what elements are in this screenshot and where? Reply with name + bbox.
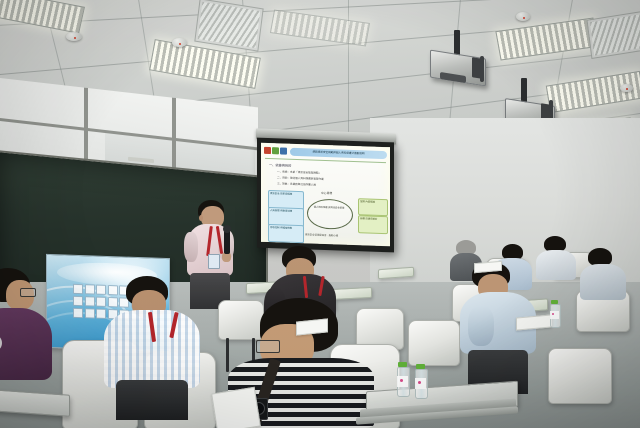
smoke-detector-far-right xyxy=(620,84,633,92)
recessed-fluorescent-panel-3 xyxy=(270,10,370,47)
slide-footer: 資訊安全管理委員會 · 推動小組 xyxy=(305,232,338,237)
recessed-fluorescent-panel-4 xyxy=(495,17,598,60)
handout-paper-foreground xyxy=(211,387,261,428)
presenter-ear xyxy=(199,215,203,221)
slide-logo-1 xyxy=(264,147,271,154)
slide-header-title: 網路資訊安全規範與個人資料保護法推動說明 xyxy=(290,147,387,158)
attendee-blue-right-arm xyxy=(468,306,494,346)
presenter-arm-left xyxy=(184,232,198,262)
attendee-foreground-purple-torso xyxy=(0,308,52,380)
slide-bullet-3: 三、對象：各業務單位及所屬人員 xyxy=(277,181,316,186)
recessed-fluorescent-panel-1 xyxy=(0,0,85,34)
slide-bullet-1: 一、依據：本部「資訊安全管理規範」 xyxy=(277,169,321,175)
classroom-photo: 網路資訊安全規範與個人資料保護法推動說明 一、依據與目的 一、依據：本部「資訊安… xyxy=(0,0,640,428)
smoke-detector-center xyxy=(172,38,187,47)
slide-right-box-2: 持續 改善與檢討 xyxy=(358,215,388,234)
smoke-detector-left xyxy=(66,32,82,41)
attendee-foreground-striped-glasses xyxy=(256,340,280,353)
slide-center-oval xyxy=(307,198,353,230)
recessed-fluorescent-panel-5 xyxy=(546,71,640,113)
attendee-foreground-purple-glasses xyxy=(20,288,36,297)
microphone-head xyxy=(223,225,231,233)
air-diffuser-right xyxy=(588,12,640,58)
slide-oval-label: 中心目標 xyxy=(321,191,332,195)
slide-logo-3 xyxy=(280,147,287,154)
attendee-white-row1-torso xyxy=(536,250,576,280)
left-foreground-table xyxy=(0,389,70,417)
tablet-desk-mid-2 xyxy=(330,287,372,300)
slide-left-box-3: 存取控制 與稽核機制 xyxy=(268,224,304,243)
slide-section-heading: 一、依據與目的 xyxy=(269,162,291,168)
projection-screen[interactable]: 網路資訊安全規範與個人資料保護法推動說明 一、依據與目的 一、依據：本部「資訊安… xyxy=(257,138,394,253)
attendee-left-check-trousers xyxy=(116,380,188,420)
air-diffuser-center xyxy=(195,0,262,51)
microphone[interactable] xyxy=(224,230,230,254)
slide-bullet-2: 二、目的：強化個人資料保護與管理作業 xyxy=(277,175,324,181)
attendee-right-rear-torso xyxy=(580,264,626,300)
slide-right-box-1: 定期 內部稽核 xyxy=(358,198,388,216)
slide-logo-2 xyxy=(272,147,279,154)
presentation-slide: 網路資訊安全規範與個人資料保護法推動說明 一、依據與目的 一、依據：本部「資訊安… xyxy=(261,143,390,247)
presenter-id-badge xyxy=(208,254,220,269)
smoke-detector-right xyxy=(516,12,530,21)
